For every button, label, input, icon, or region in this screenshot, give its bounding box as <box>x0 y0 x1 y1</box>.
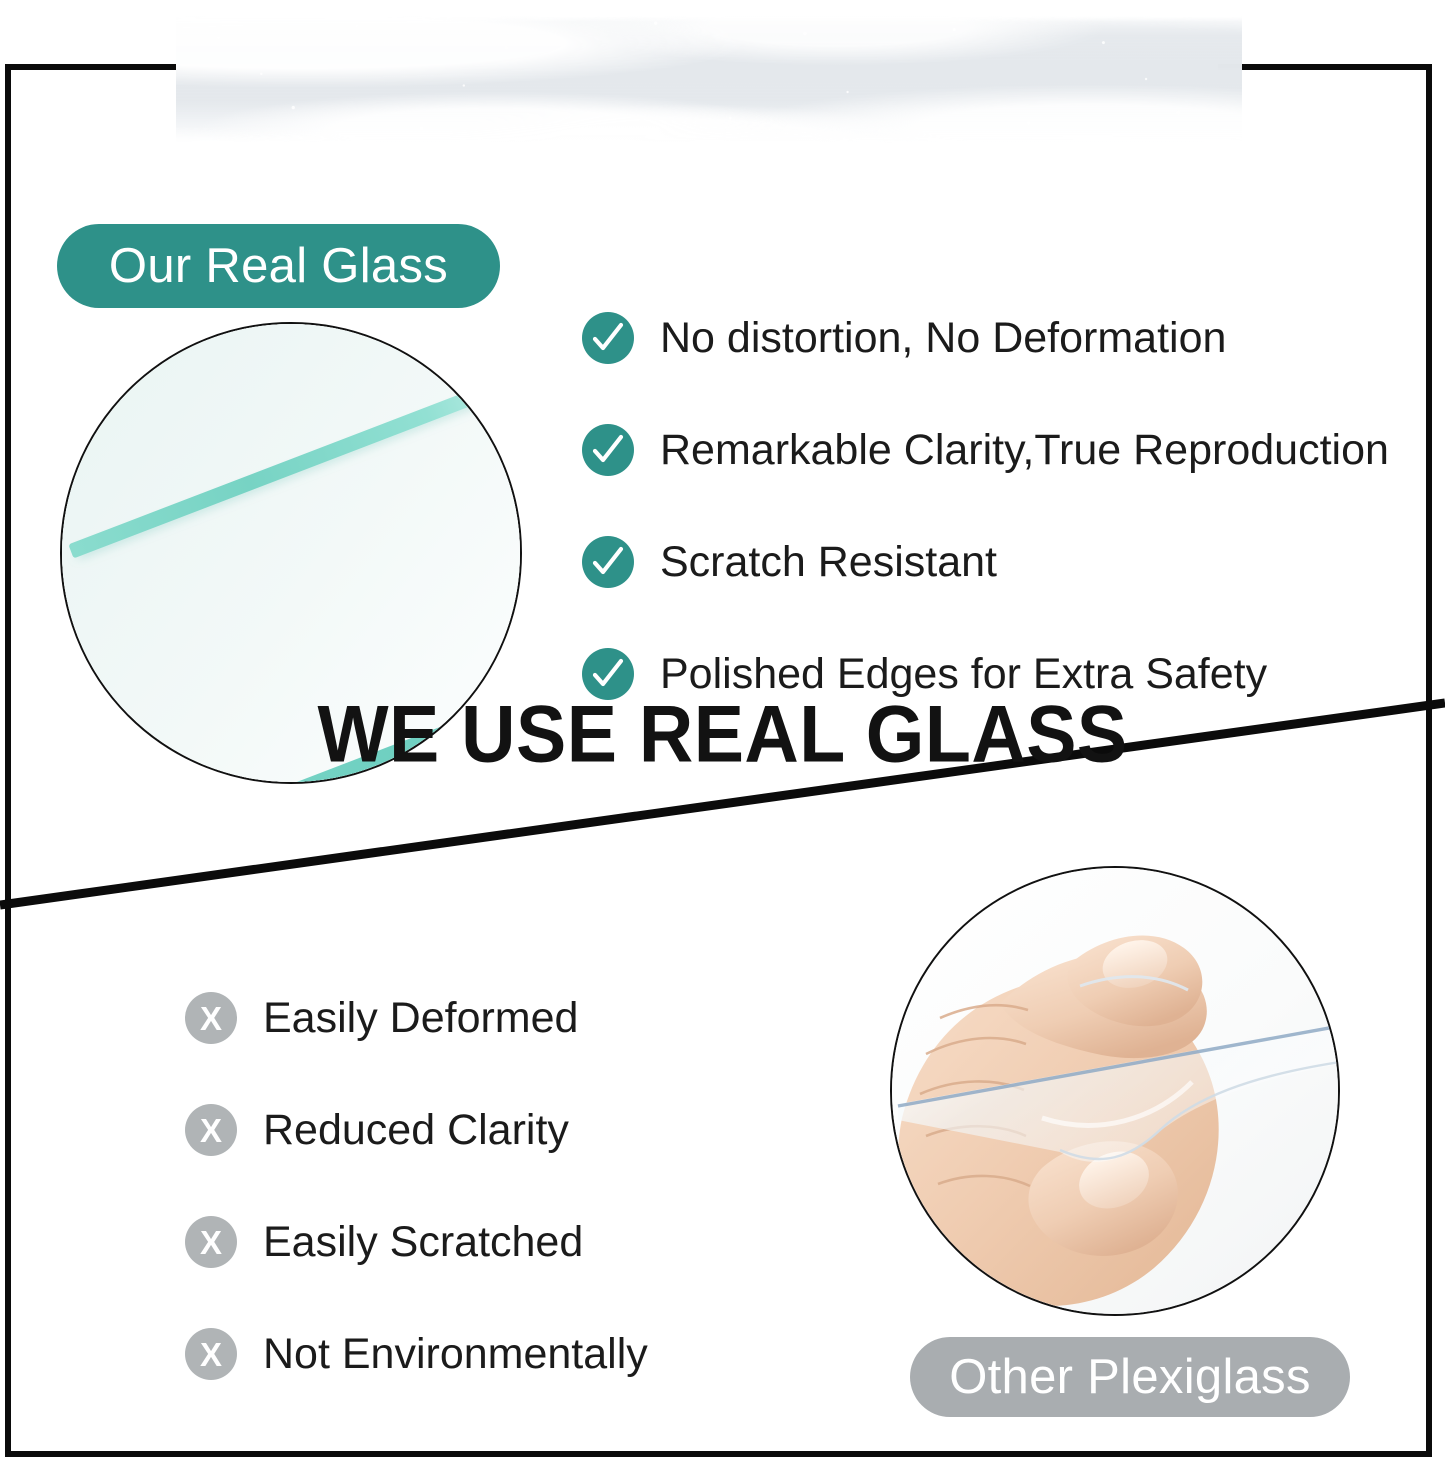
list-item: X Not Environmentally <box>185 1298 885 1410</box>
x-icon-glyph: X <box>200 1226 222 1259</box>
check-icon <box>582 536 634 588</box>
page-title-text: WE USE REAL GLASS <box>317 695 1127 776</box>
badge-other-plexiglass: Other Plexiglass <box>910 1337 1350 1417</box>
advantage-label: No distortion, No Deformation <box>660 317 1226 360</box>
banner-texture <box>176 14 1242 144</box>
list-item: X Reduced Clarity <box>185 1074 885 1186</box>
plexiglass-photo-image <box>892 868 1340 1316</box>
plexiglass-photo <box>890 866 1340 1316</box>
page-title: WE USE REAL GLASS <box>0 695 1445 776</box>
drawback-label: Not Environmentally <box>263 1333 648 1376</box>
list-item: X Easily Scratched <box>185 1186 885 1298</box>
x-icon-glyph: X <box>200 1002 222 1035</box>
badge-our-real-glass-label: Our Real Glass <box>109 238 448 294</box>
x-icon: X <box>185 1104 237 1156</box>
advantages-list: No distortion, No Deformation Remarkable… <box>582 282 1430 730</box>
drawbacks-list: X Easily Deformed X Reduced Clarity X Ea… <box>185 962 885 1410</box>
drawback-label: Easily Scratched <box>263 1221 583 1264</box>
list-item: No distortion, No Deformation <box>582 282 1430 394</box>
list-item: X Easily Deformed <box>185 962 885 1074</box>
x-icon-glyph: X <box>200 1114 222 1147</box>
x-icon: X <box>185 992 237 1044</box>
advantage-label: Scratch Resistant <box>660 541 997 584</box>
x-icon: X <box>185 1328 237 1380</box>
drawback-label: Reduced Clarity <box>263 1109 569 1152</box>
x-icon: X <box>185 1216 237 1268</box>
infographic-canvas: WE USE REAL GLASS Our Real Glass No dist… <box>0 0 1445 1470</box>
badge-other-plexiglass-label: Other Plexiglass <box>949 1349 1311 1405</box>
list-item: Scratch Resistant <box>582 506 1430 618</box>
title-banner <box>176 14 1242 144</box>
advantage-label: Remarkable Clarity,True Reproduction <box>660 429 1389 472</box>
x-icon-glyph: X <box>200 1338 222 1371</box>
drawback-label: Easily Deformed <box>263 997 578 1040</box>
list-item: Remarkable Clarity,True Reproduction <box>582 394 1430 506</box>
badge-our-real-glass: Our Real Glass <box>57 224 500 308</box>
check-icon <box>582 424 634 476</box>
check-icon <box>582 312 634 364</box>
